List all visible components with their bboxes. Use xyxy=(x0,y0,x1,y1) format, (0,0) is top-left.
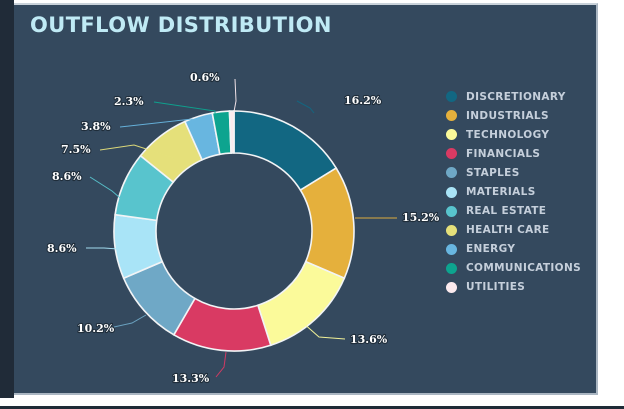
donut-value-label: 7.5% xyxy=(61,143,91,156)
donut-value-label: 0.6% xyxy=(190,71,220,84)
legend-item-label: UTILITIES xyxy=(466,281,525,293)
legend-item[interactable]: FINANCIALS xyxy=(446,144,596,163)
donut-leader-line xyxy=(86,248,118,249)
donut-value-label: 15.2% xyxy=(402,211,440,224)
legend-item-label: HEALTH CARE xyxy=(466,224,550,236)
legend-item[interactable]: UTILITIES xyxy=(446,278,596,297)
legend-item-label: STAPLES xyxy=(466,167,520,179)
legend-color-swatch xyxy=(446,263,457,274)
legend-item[interactable]: INDUSTRIALS xyxy=(446,106,596,125)
legend-color-swatch xyxy=(446,282,457,293)
legend-item-label: FINANCIALS xyxy=(466,148,540,160)
donut-value-label: 13.3% xyxy=(172,372,210,385)
donut-chart: 16.2%15.2%13.6%13.3%10.2%8.6%8.6%7.5%3.8… xyxy=(14,5,444,395)
legend-color-swatch xyxy=(446,244,457,255)
legend-color-swatch xyxy=(446,225,457,236)
legend-item[interactable]: DISCRETIONARY xyxy=(446,87,596,106)
screenshot-root: OUTFLOW DISTRIBUTION 16.2%15.2%13.6%13.3… xyxy=(0,0,624,409)
donut-slice[interactable] xyxy=(229,111,234,153)
legend-item[interactable]: COMMUNICATIONS xyxy=(446,259,596,278)
chart-panel: OUTFLOW DISTRIBUTION 16.2%15.2%13.6%13.3… xyxy=(14,3,598,395)
legend-color-swatch xyxy=(446,110,457,121)
legend-color-swatch xyxy=(446,91,457,102)
legend-item[interactable]: TECHNOLOGY xyxy=(446,125,596,144)
donut-value-label: 8.6% xyxy=(47,242,77,255)
legend-item[interactable]: MATERIALS xyxy=(446,182,596,201)
donut-leader-line xyxy=(297,101,314,113)
legend-item[interactable]: STAPLES xyxy=(446,163,596,182)
donut-chart-svg: 16.2%15.2%13.6%13.3%10.2%8.6%8.6%7.5%3.8… xyxy=(14,5,444,395)
donut-value-label: 16.2% xyxy=(344,94,382,107)
donut-value-label: 13.6% xyxy=(350,333,388,346)
legend-item-label: MATERIALS xyxy=(466,186,536,198)
donut-value-label: 3.8% xyxy=(81,120,111,133)
legend-item[interactable]: ENERGY xyxy=(446,240,596,259)
donut-slice[interactable] xyxy=(258,262,344,346)
donut-slice-group xyxy=(114,111,354,351)
legend-color-swatch xyxy=(446,187,457,198)
legend-item-label: COMMUNICATIONS xyxy=(466,262,581,274)
donut-leader-line xyxy=(114,315,146,327)
legend: DISCRETIONARYINDUSTRIALSTECHNOLOGYFINANC… xyxy=(446,87,596,297)
donut-value-label: 2.3% xyxy=(114,95,144,108)
left-gutter xyxy=(0,0,14,398)
donut-value-label: 10.2% xyxy=(77,322,115,335)
legend-item-label: INDUSTRIALS xyxy=(466,110,549,122)
legend-item[interactable]: HEALTH CARE xyxy=(446,221,596,240)
legend-item-label: ENERGY xyxy=(466,243,515,255)
legend-item[interactable]: REAL ESTATE xyxy=(446,202,596,221)
donut-value-label: 8.6% xyxy=(52,170,82,183)
legend-item-label: TECHNOLOGY xyxy=(466,129,549,141)
legend-color-swatch xyxy=(446,148,457,159)
legend-item-label: DISCRETIONARY xyxy=(466,91,566,103)
donut-slice[interactable] xyxy=(300,168,354,278)
legend-color-swatch xyxy=(446,129,457,140)
legend-color-swatch xyxy=(446,167,457,178)
donut-leader-line xyxy=(216,352,226,377)
legend-item-label: REAL ESTATE xyxy=(466,205,546,217)
legend-color-swatch xyxy=(446,206,457,217)
